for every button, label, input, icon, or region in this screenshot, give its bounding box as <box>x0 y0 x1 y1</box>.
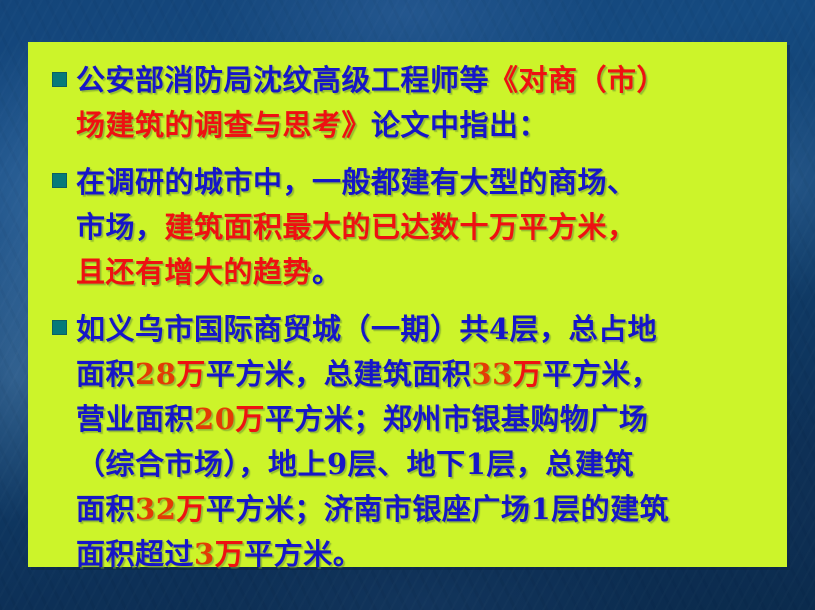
text-line: （综合市场），地上9层、地下1层，总建筑 <box>76 442 777 487</box>
text-segment-blue: 平方米，总建筑面积 <box>206 357 472 391</box>
text-line: 面积32万平方米；济南市银座广场1层的建筑 <box>76 487 777 532</box>
slide-content-panel: 公安部消防局沈纹高级工程师等《对商（市）场建筑的调查与思考》论文中指出： 在调研… <box>28 42 787 567</box>
bullet-square-icon <box>52 320 67 335</box>
text-segment-red: 《对商（市） <box>489 63 666 97</box>
text-line: 面积超过3万平方米。 <box>76 532 777 577</box>
text-line: 营业面积20万平方米；郑州市银基购物广场 <box>76 397 777 442</box>
text-segment-number: 33 <box>471 357 512 391</box>
text-segment-red: 场建筑的调查与思考》 <box>76 108 371 142</box>
text-segment-blue: 如义乌市国际商贸城（一期）共4层，总占地 <box>76 312 657 346</box>
text-segment-blue: 。 <box>312 255 342 289</box>
bullet-1-lines: 公安部消防局沈纹高级工程师等《对商（市）场建筑的调查与思考》论文中指出： <box>76 58 777 148</box>
text-segment-blue: 平方米；济南市银座广场1层的建筑 <box>206 492 669 526</box>
bullet-item-1: 公安部消防局沈纹高级工程师等《对商（市）场建筑的调查与思考》论文中指出： <box>38 58 777 148</box>
text-line: 面积28万平方米，总建筑面积33万平方米， <box>76 352 777 397</box>
text-segment-blue: 面积 <box>76 357 135 391</box>
text-segment-red: 且还有增大的趋势 <box>76 255 312 289</box>
text-segment-number: 28 <box>135 357 176 391</box>
text-segment-blue: 市场， <box>76 210 165 244</box>
text-line: 公安部消防局沈纹高级工程师等《对商（市） <box>76 58 777 103</box>
text-segment-blue: 平方米， <box>542 357 660 391</box>
bullet-item-3: 如义乌市国际商贸城（一期）共4层，总占地面积28万平方米，总建筑面积33万平方米… <box>38 307 777 577</box>
text-segment-red: 建筑面积最大的已达数十万平方米， <box>165 210 637 244</box>
text-segment-blue: （综合市场），地上9层、地下1层，总建筑 <box>76 447 634 481</box>
text-segment-red: 万 <box>235 402 265 436</box>
presentation-slide: 公安部消防局沈纹高级工程师等《对商（市）场建筑的调查与思考》论文中指出： 在调研… <box>0 0 815 610</box>
text-segment-blue: 面积 <box>76 492 135 526</box>
bullet-item-2: 在调研的城市中，一般都建有大型的商场、市场，建筑面积最大的已达数十万平方米，且还… <box>38 160 777 295</box>
text-segment-number: 3 <box>194 537 215 571</box>
text-segment-blue: 平方米；郑州市银基购物广场 <box>265 402 649 436</box>
text-segment-blue: 公安部消防局沈纹高级工程师等 <box>76 63 489 97</box>
text-line: 市场，建筑面积最大的已达数十万平方米， <box>76 205 777 250</box>
bullet-2-lines: 在调研的城市中，一般都建有大型的商场、市场，建筑面积最大的已达数十万平方米，且还… <box>76 160 777 295</box>
text-segment-number: 32 <box>135 492 176 526</box>
bullet-square-icon <box>52 72 67 87</box>
text-segment-blue: 在调研的城市中，一般都建有大型的商场、 <box>76 165 637 199</box>
text-segment-red: 万 <box>215 537 245 571</box>
text-segment-blue: 平方米。 <box>244 537 362 571</box>
text-segment-blue: 营业面积 <box>76 402 194 436</box>
text-segment-red: 万 <box>176 492 206 526</box>
bullet-square-icon <box>52 173 67 188</box>
text-line: 场建筑的调查与思考》论文中指出： <box>76 103 777 148</box>
text-segment-number: 20 <box>194 402 235 436</box>
text-segment-blue: 论文中指出： <box>371 108 548 142</box>
bullet-3-lines: 如义乌市国际商贸城（一期）共4层，总占地面积28万平方米，总建筑面积33万平方米… <box>76 307 777 577</box>
text-line: 如义乌市国际商贸城（一期）共4层，总占地 <box>76 307 777 352</box>
text-segment-red: 万 <box>176 357 206 391</box>
text-segment-blue: 面积超过 <box>76 537 194 571</box>
text-segment-red: 万 <box>513 357 543 391</box>
text-line: 在调研的城市中，一般都建有大型的商场、 <box>76 160 777 205</box>
text-line: 且还有增大的趋势。 <box>76 250 777 295</box>
